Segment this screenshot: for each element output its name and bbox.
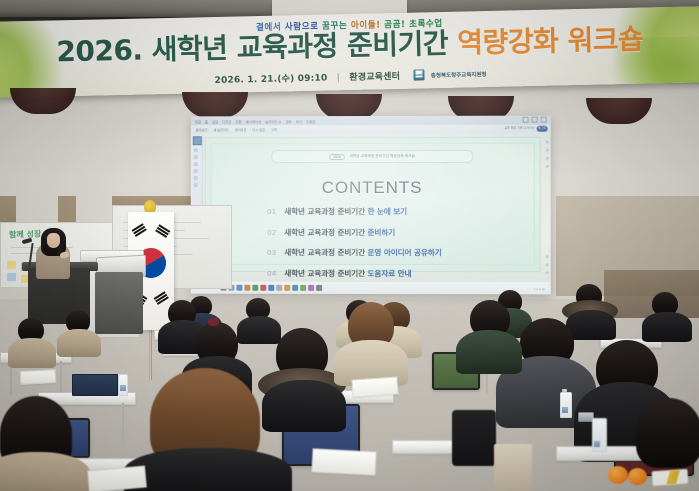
- os-taskbar[interactable]: [191, 282, 551, 295]
- close-icon[interactable]: [541, 117, 547, 123]
- slide-thumbnail[interactable]: [194, 169, 198, 173]
- window-controls[interactable]: [523, 117, 547, 123]
- audience-shoulders: [566, 310, 616, 340]
- trigram-ri-icon: [154, 291, 170, 305]
- toc-item-number: 04: [267, 268, 276, 277]
- audience-shoulders: [57, 329, 101, 357]
- audience-shoulders: [642, 312, 692, 342]
- desk-leg: [122, 403, 124, 443]
- account-badge[interactable]: 로그인: [537, 126, 548, 132]
- sticky-note: [7, 261, 16, 269]
- taskbar-office-icon[interactable]: [244, 285, 249, 290]
- ribbon-section[interactable]: 구역: [271, 127, 277, 132]
- milk-carton: [592, 418, 607, 452]
- tool-icon[interactable]: [546, 255, 549, 258]
- toc-item-prefix: 새학년 교육과정 준비기간: [284, 248, 367, 257]
- menu-item-file[interactable]: 파일: [195, 119, 201, 124]
- taskbar-app-icon[interactable]: [276, 285, 281, 290]
- backpack: [452, 410, 496, 466]
- toc-item-prefix: 새학년 교육과정 준비기간: [284, 268, 367, 277]
- slide-thumbnail[interactable]: [194, 155, 198, 159]
- taskbar-app-icon[interactable]: [284, 285, 289, 290]
- minimize-icon[interactable]: [523, 117, 529, 123]
- toc-item: 04 새학년 교육과정 준비기간 도움자료 안내: [267, 267, 509, 278]
- taskbar-powerpoint-icon[interactable]: [260, 285, 265, 290]
- tool-icon[interactable]: [546, 165, 549, 168]
- toc-item: 02 새학년 교육과정 준비기간 준비하기: [267, 226, 509, 237]
- audience-shoulders: [262, 380, 346, 432]
- taskbar-excel-icon[interactable]: [252, 285, 257, 290]
- toc-item-prefix: 새학년 교육과정 준비기간: [284, 207, 367, 216]
- audience-head-foreground: [636, 398, 699, 468]
- organization-logo-icon: [413, 69, 424, 80]
- wood-panel-right-lower: [604, 270, 699, 318]
- menu-item-insert[interactable]: 삽입: [212, 119, 218, 124]
- slide-thumbnail[interactable]: [194, 148, 198, 152]
- tote-bag: [494, 444, 532, 491]
- projected-app-window: 파일 홈 삽입 디자인 전환 애니메이션 슬라이드 쇼 검토 보기 도움말 붙여…: [191, 116, 551, 295]
- milk-carton: [560, 392, 572, 418]
- slide-thumbnail-selected[interactable]: [192, 136, 201, 145]
- zoom-level[interactable]: 100%: [534, 287, 546, 291]
- toc-item-number: 02: [267, 227, 276, 236]
- event-banner: 곁에서 사람으로 꿈꾸는 아이들! 곰곰! 초록수업 2026. 새학년 교육과…: [0, 6, 699, 98]
- audience-shoulders-foreground: [124, 448, 292, 491]
- tool-icon[interactable]: [546, 271, 549, 274]
- audience-shoulders: [456, 330, 522, 374]
- workshop-photo-scene: 곁에서 사람으로 꿈꾸는 아이들! 곰곰! 초록수업 2026. 새학년 교육과…: [0, 0, 699, 491]
- toc-item-number: 01: [267, 207, 276, 216]
- menu-item-animation[interactable]: 애니메이션: [246, 119, 262, 124]
- trigram-geon-icon: [132, 223, 148, 237]
- taskbar-app-icon[interactable]: [300, 285, 305, 291]
- handout-papers: [351, 376, 398, 397]
- orange-fruit: [608, 466, 628, 484]
- banner-date: 2026. 1. 21.(수) 09:10: [214, 74, 327, 86]
- menu-item-view[interactable]: 보기: [296, 119, 302, 124]
- taskbar-browser-icon[interactable]: [292, 285, 297, 291]
- slide-header-text: 새학년 교육과정 준비기간 역량강화 워크숍: [349, 154, 415, 159]
- app-ribbon: 붙여넣기 새 슬라이드 레이아웃 다시 설정 구역: [191, 125, 551, 134]
- tool-icon[interactable]: [546, 149, 549, 152]
- maximize-icon[interactable]: [532, 117, 538, 123]
- menu-item-help[interactable]: 도움말: [306, 119, 315, 124]
- slide-thumbnail[interactable]: [194, 162, 198, 166]
- trigram-gam-icon: [155, 224, 171, 238]
- banner-divider: |: [337, 73, 340, 83]
- slide-canvas[interactable]: 2026 새학년 교육과정 준비기간 역량강화 워크숍 CONTENTS 01 …: [205, 137, 541, 273]
- toc-item-number: 03: [267, 248, 276, 257]
- menu-item-home[interactable]: 홈: [205, 119, 208, 124]
- banner-place: 환경교육센터: [349, 72, 400, 83]
- toc-item-highlight: 한 눈에 보기: [368, 207, 408, 216]
- projection-screen: 파일 홈 삽입 디자인 전환 애니메이션 슬라이드 쇼 검토 보기 도움말 붙여…: [191, 116, 551, 295]
- ribbon-reset[interactable]: 다시 설정: [252, 127, 265, 132]
- slide-heading: CONTENTS: [212, 178, 534, 198]
- taskbar-app-icon[interactable]: [316, 285, 321, 291]
- water-bottle: [118, 374, 128, 396]
- toc-item-text: 새학년 교육과정 준비기간 도움자료 안내: [284, 267, 411, 278]
- slide-table-of-contents: 01 새학년 교육과정 준비기간 한 눈에 보기 02 새학년 교육과정 준비기…: [267, 206, 509, 288]
- menu-item-slideshow[interactable]: 슬라이드 쇼: [265, 119, 281, 124]
- organization-name: 충청북도청주교육지원청: [431, 72, 487, 79]
- toc-item-highlight: 준비하기: [368, 227, 396, 236]
- orange-fruit: [628, 468, 647, 485]
- desk-leg: [60, 361, 62, 395]
- taskbar-app-icon[interactable]: [308, 285, 313, 291]
- toc-item-highlight: 도움자료 안내: [368, 268, 412, 277]
- audience-shoulders-foreground: [0, 452, 90, 491]
- handout-papers: [20, 369, 57, 385]
- laptop: [72, 374, 118, 396]
- ribbon-new-slide[interactable]: 새 슬라이드: [213, 127, 228, 132]
- snack-package: [652, 469, 689, 486]
- toc-item-prefix: 새학년 교육과정 준비기간: [284, 227, 367, 236]
- taskbar-word-icon[interactable]: [268, 285, 273, 290]
- banner-title-accent: 역량강화 워크숍: [457, 23, 644, 60]
- menu-item-transition[interactable]: 전환: [235, 119, 241, 124]
- ribbon-layout[interactable]: 레이아웃: [235, 127, 247, 132]
- toc-item-text: 새학년 교육과정 준비기간 준비하기: [284, 226, 395, 237]
- ribbon-paste[interactable]: 붙여넣기: [196, 127, 208, 132]
- slide-header-tab: 2026 새학년 교육과정 준비기간 역량강화 워크숍: [271, 150, 473, 163]
- audience-shoulders: [8, 338, 56, 368]
- slide-thumbnail[interactable]: [194, 176, 198, 180]
- taskbar-explorer-icon[interactable]: [236, 285, 241, 290]
- toc-item-text: 새학년 교육과정 준비기간 한 눈에 보기: [284, 206, 407, 217]
- handout-papers: [311, 448, 376, 475]
- hair-clip: [208, 318, 219, 326]
- slide-header-year: 2026: [329, 154, 345, 160]
- av-rack: [95, 272, 143, 334]
- tool-icon[interactable]: [546, 141, 549, 144]
- bottle-cap: [562, 389, 567, 392]
- toc-item: 01 새학년 교육과정 준비기간 한 눈에 보기: [267, 206, 509, 217]
- toc-item: 03 새학년 교육과정 준비기간 운영 아이디어 공유하기: [267, 247, 509, 258]
- audience-shoulders: [237, 316, 281, 344]
- tool-icon[interactable]: [546, 263, 549, 266]
- tool-icon[interactable]: [546, 157, 549, 160]
- menu-item-design[interactable]: 디자인: [222, 119, 231, 124]
- ribbon-right-tools[interactable]: 공유 메모 기록 디자이너: [504, 126, 534, 130]
- right-tool-rail[interactable]: [543, 135, 550, 286]
- handout-papers: [87, 466, 147, 491]
- menu-item-review[interactable]: 검토: [286, 119, 292, 124]
- slide-inner-border: 2026 새학년 교육과정 준비기간 역량강화 워크숍 CONTENTS 01 …: [211, 143, 535, 265]
- slide-thumbnail[interactable]: [194, 183, 198, 187]
- sticky-note: [7, 273, 16, 281]
- toc-item-text: 새학년 교육과정 준비기간 운영 아이디어 공유하기: [284, 247, 441, 258]
- toc-item-highlight: 운영 아이디어 공유하기: [368, 248, 442, 257]
